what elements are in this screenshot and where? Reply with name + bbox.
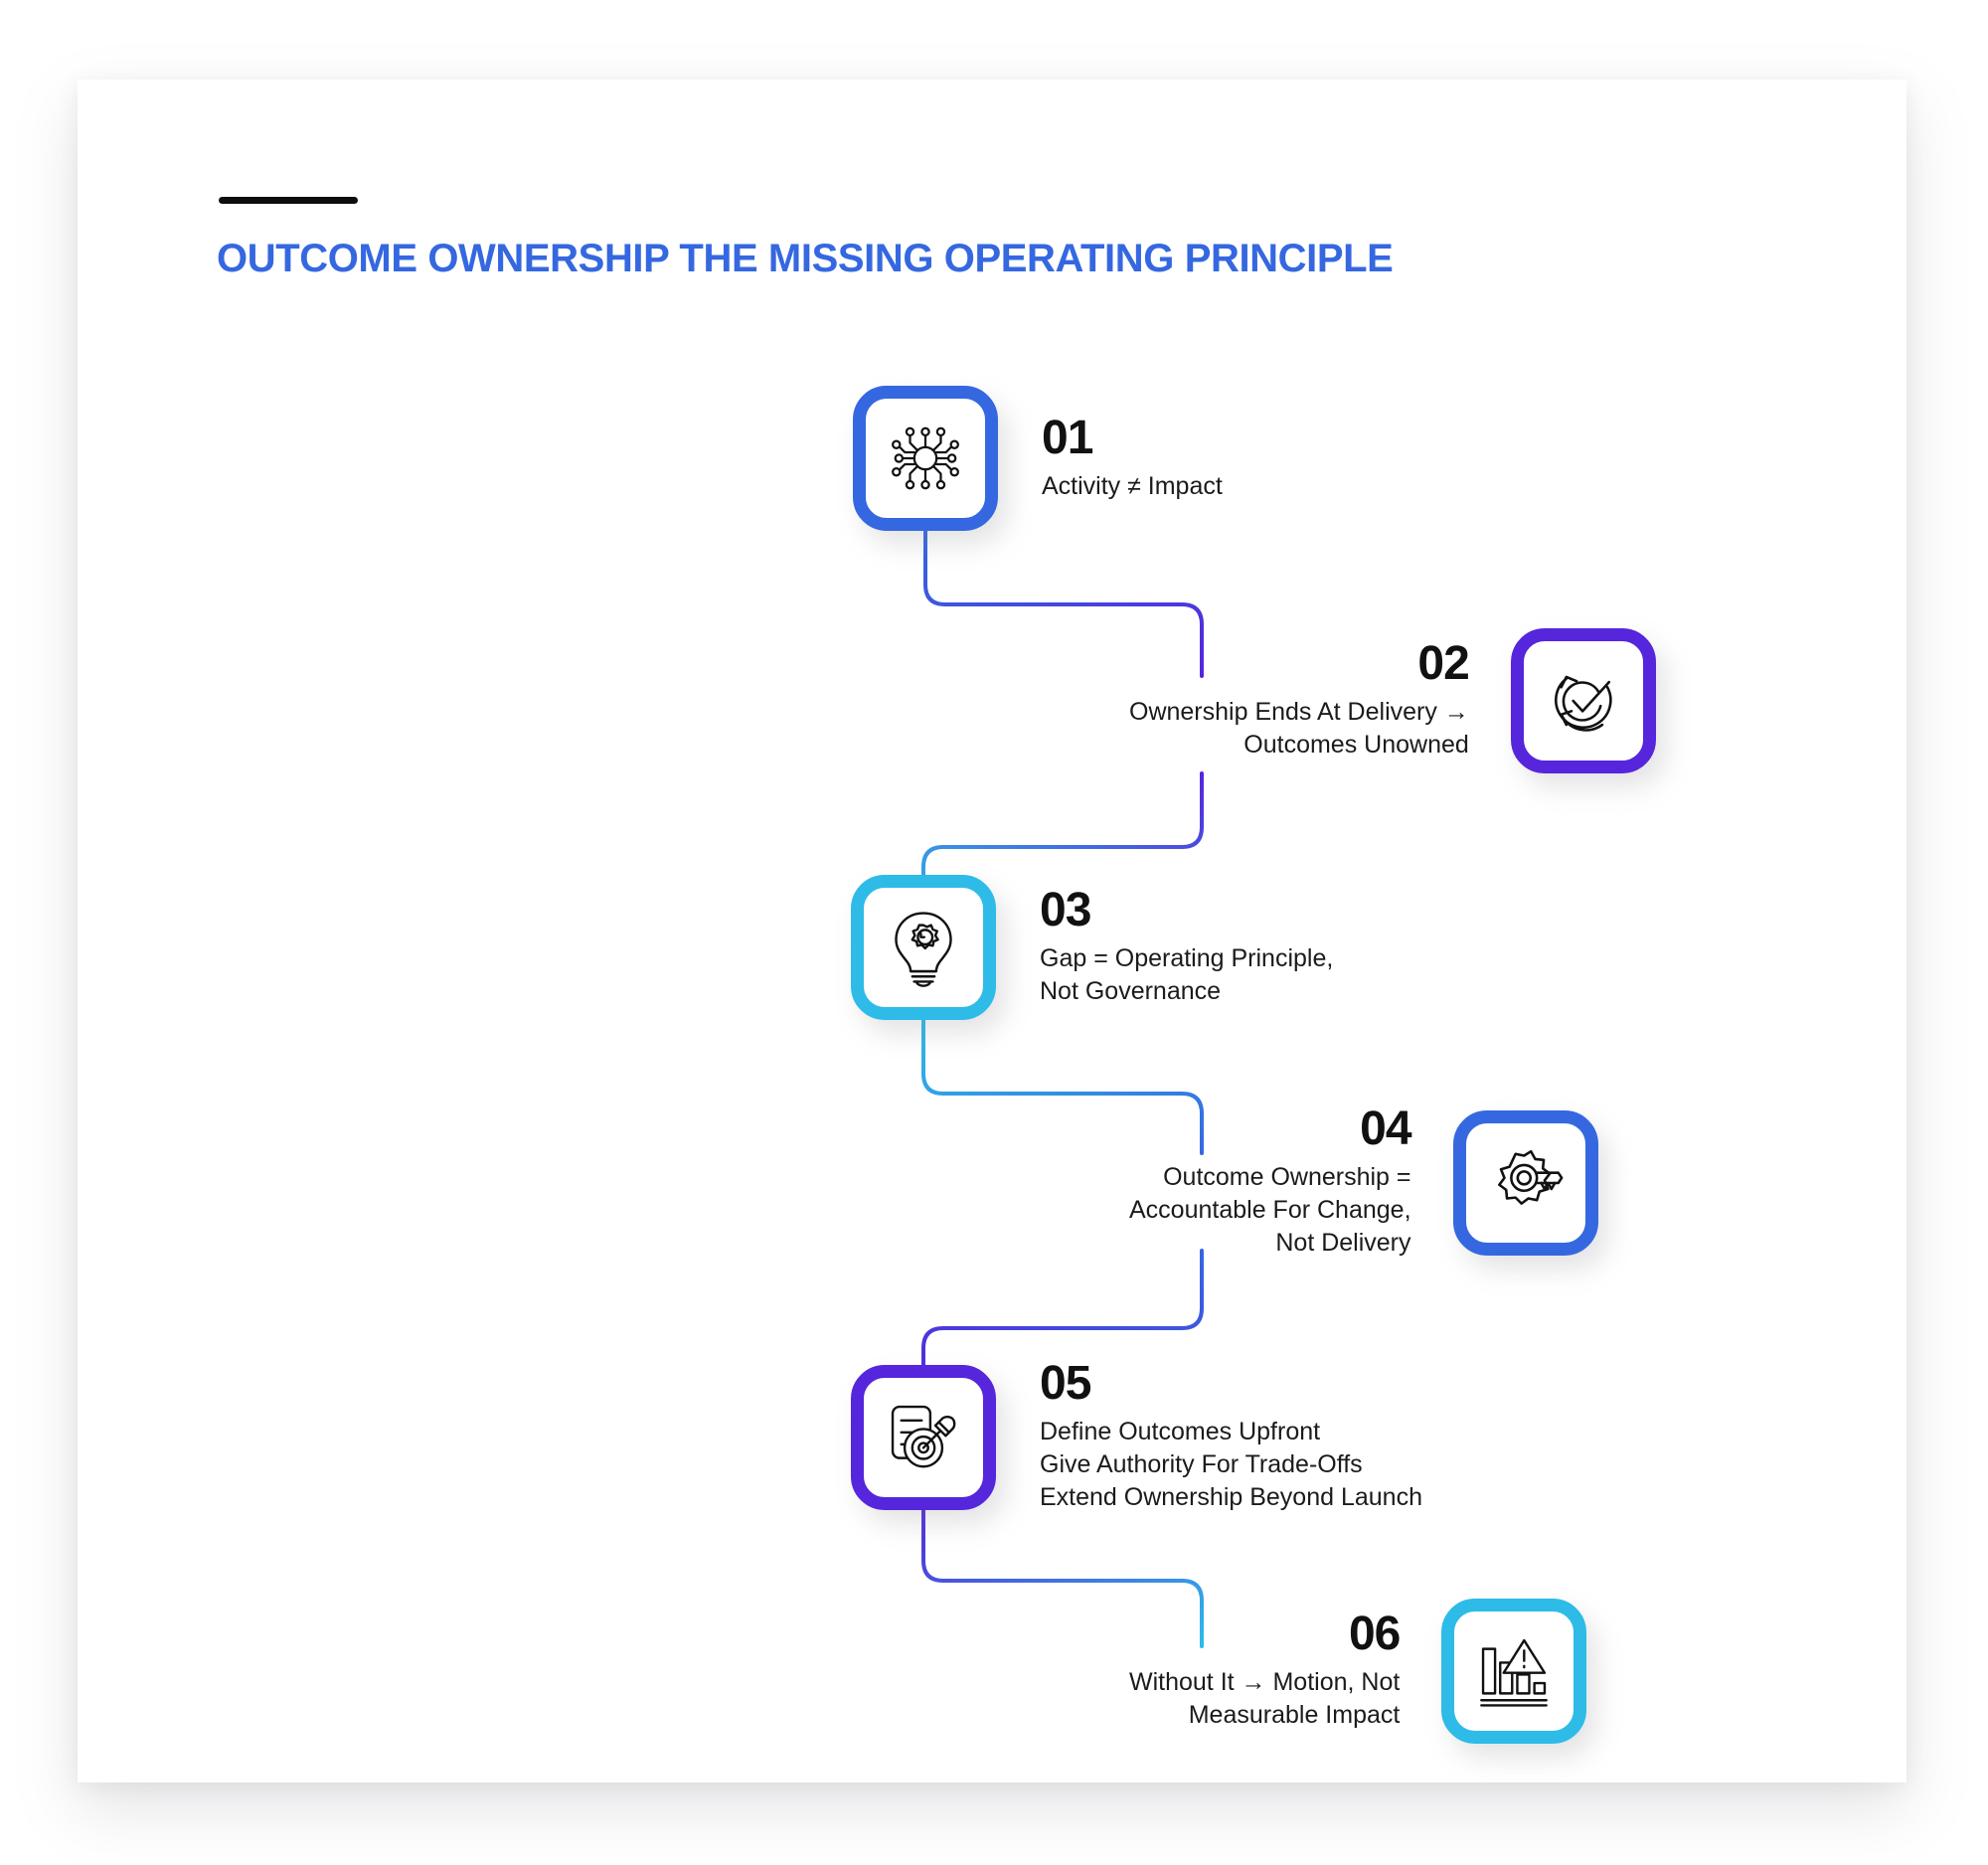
step-06-text: 06 Without It → Motion, Not Measurable I… [1129, 1611, 1400, 1732]
step-04-number: 04 [1129, 1105, 1411, 1153]
title-accent-rule [219, 197, 358, 204]
step-04-icon-card [1453, 1110, 1598, 1256]
step-item-01[interactable]: 01 Activity ≠ Impact [853, 386, 1223, 531]
step-05-description: Define Outcomes Upfront Give Authority F… [1040, 1416, 1422, 1514]
step-02-description: Ownership Ends At Delivery → Outcomes Un… [1129, 696, 1469, 762]
step-04-text: 04 Outcome Ownership = Accountable For C… [1129, 1105, 1411, 1260]
step-01-number: 01 [1042, 415, 1223, 462]
step-item-04[interactable]: 04 Outcome Ownership = Accountable For C… [1129, 1105, 1598, 1260]
document-target-pen-icon [881, 1395, 966, 1480]
page-title: OUTCOME OWNERSHIP THE MISSING OPERATING … [217, 237, 1393, 281]
infographic-canvas: OUTCOME OWNERSHIP THE MISSING OPERATING … [0, 0, 1988, 1865]
step-06-number: 06 [1129, 1611, 1400, 1658]
step-06-description: Without It → Motion, Not Measurable Impa… [1129, 1666, 1400, 1732]
step-01-icon-card [853, 386, 998, 531]
step-03-text: 03 Gap = Operating Principle, Not Govern… [1040, 887, 1333, 1008]
step-item-06[interactable]: 06 Without It → Motion, Not Measurable I… [1129, 1599, 1586, 1744]
lightbulb-gear-icon [881, 905, 966, 990]
step-01-text: 01 Activity ≠ Impact [1042, 415, 1223, 503]
step-item-05[interactable]: 05 Define Outcomes Upfront Give Authorit… [851, 1360, 1422, 1514]
step-02-text: 02 Ownership Ends At Delivery → Outcomes… [1129, 640, 1469, 762]
step-03-icon-card [851, 875, 996, 1020]
step-05-icon-card [851, 1365, 996, 1510]
step-06-icon-card [1441, 1599, 1586, 1744]
step-03-number: 03 [1040, 887, 1333, 934]
refresh-check-icon [1541, 658, 1626, 744]
step-03-description: Gap = Operating Principle, Not Governanc… [1040, 942, 1333, 1008]
network-hub-icon [883, 416, 968, 501]
step-04-description: Outcome Ownership = Accountable For Chan… [1129, 1161, 1411, 1260]
step-05-number: 05 [1040, 1360, 1422, 1408]
bar-chart-warning-icon [1471, 1628, 1557, 1714]
gear-key-icon [1483, 1140, 1569, 1226]
step-item-03[interactable]: 03 Gap = Operating Principle, Not Govern… [851, 875, 1333, 1020]
step-02-number: 02 [1129, 640, 1469, 688]
step-02-icon-card [1511, 628, 1656, 773]
step-item-02[interactable]: 02 Ownership Ends At Delivery → Outcomes… [1129, 628, 1656, 773]
step-01-description: Activity ≠ Impact [1042, 470, 1223, 503]
content-sheet: OUTCOME OWNERSHIP THE MISSING OPERATING … [78, 80, 1906, 1782]
step-05-text: 05 Define Outcomes Upfront Give Authorit… [1040, 1360, 1422, 1514]
